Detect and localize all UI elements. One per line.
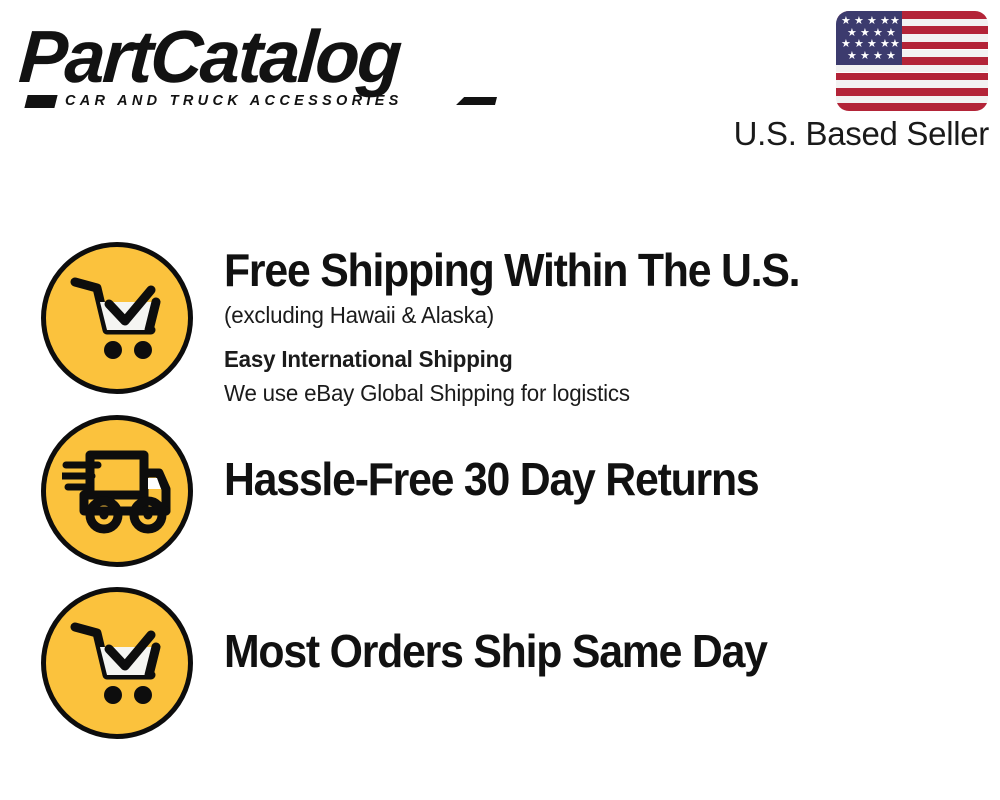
page-header: PartCatalog CAR AND TRUCK ACCESSORIES ★ … (0, 0, 1000, 175)
feature-sub-note: (excluding Hawaii & Alaska) (224, 300, 824, 330)
brand-logo[interactable]: PartCatalog CAR AND TRUCK ACCESSORIES (22, 18, 502, 96)
feature-text-same-day: Most Orders Ship Same Day (224, 587, 808, 677)
flag-stripe (836, 80, 988, 88)
brand-tagline: CAR AND TRUCK ACCESSORIES (65, 93, 403, 109)
feature-headline: Hassle-Free 30 Day Returns (224, 453, 758, 505)
delivery-truck-icon (41, 415, 193, 567)
shopping-cart-check-icon (41, 242, 193, 394)
flag-canton: ★ ★ ★ ★ ★ ★ ★ ★ ★ ★ ★ ★ ★ ★ ★ ★ ★ ★ (836, 11, 902, 65)
tagline-rule-right-icon (408, 97, 497, 105)
flag-stripe (836, 73, 988, 81)
feature-row-same-day: Most Orders Ship Same Day (0, 587, 1000, 757)
flag-stripe (836, 65, 988, 73)
us-flag-icon: ★ ★ ★ ★ ★ ★ ★ ★ ★ ★ ★ ★ ★ ★ ★ ★ ★ ★ (836, 11, 988, 111)
feature-headline: Free Shipping Within The U.S. (224, 244, 799, 296)
feature-text-free-shipping: Free Shipping Within The U.S. (excluding… (224, 242, 843, 408)
shopping-cart-check-icon (41, 587, 193, 739)
brand-tagline-row: CAR AND TRUCK ACCESSORIES (26, 90, 496, 112)
feature-text-returns: Hassle-Free 30 Day Returns (224, 415, 799, 505)
feature-row-returns: Hassle-Free 30 Day Returns (0, 415, 1000, 585)
feature-headline: Most Orders Ship Same Day (224, 625, 767, 677)
brand-wordmark: PartCatalog (17, 18, 493, 96)
us-based-seller-label: U.S. Based Seller (727, 115, 989, 153)
feature-sub-detail: We use eBay Global Shipping for logistic… (224, 378, 824, 408)
flag-stripe (836, 103, 988, 111)
flag-stripe (836, 96, 988, 104)
flag-stripe (836, 88, 988, 96)
tagline-rule-left-icon (24, 95, 57, 108)
feature-sub-heading: Easy International Shipping (224, 344, 824, 374)
feature-row-free-shipping: Free Shipping Within The U.S. (excluding… (0, 242, 1000, 412)
